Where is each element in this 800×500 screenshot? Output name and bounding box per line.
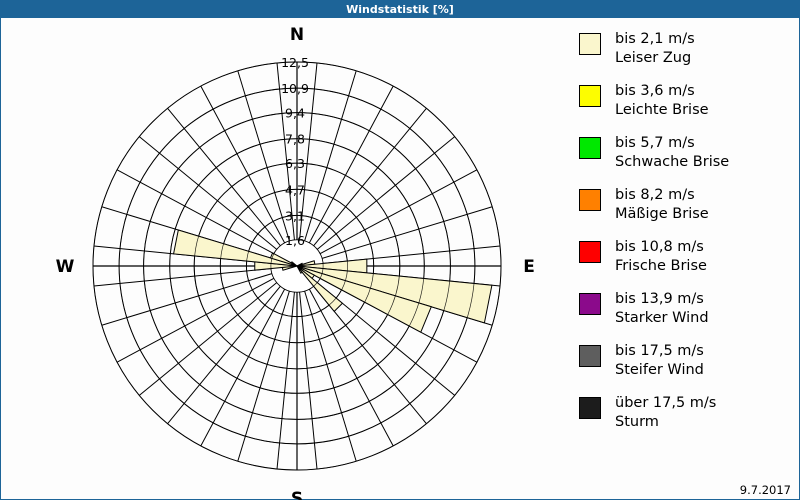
grid-spoke: [297, 207, 492, 266]
window-titlebar: Windstatistik [%]: [1, 1, 799, 18]
window-body: 1,63,14,76,37,89,410,912,5NSWE bis 2,1 m…: [1, 18, 799, 499]
radial-tick-label: 10,9: [281, 81, 309, 96]
wind-rose-chart: 1,63,14,76,37,89,410,912,5NSWE: [1, 18, 567, 500]
legend-label: bis 17,5 m/sSteifer Wind: [615, 342, 704, 380]
legend-color-swatch: [579, 397, 601, 419]
compass-label-east: E: [523, 257, 535, 277]
legend-item[interactable]: bis 8,2 m/sMäßige Brise: [579, 186, 794, 231]
legend-speed-range: über 17,5 m/s: [615, 394, 716, 413]
legend-speed-range: bis 5,7 m/s: [615, 134, 729, 153]
legend-speed-range: bis 10,8 m/s: [615, 238, 707, 257]
radial-tick-label: 7,8: [285, 132, 305, 147]
legend-label: bis 10,8 m/sFrische Brise: [615, 238, 707, 276]
legend-item[interactable]: bis 17,5 m/sSteifer Wind: [579, 342, 794, 387]
legend-item[interactable]: bis 13,9 m/sStarker Wind: [579, 290, 794, 335]
grid-spoke: [297, 137, 455, 266]
legend-beaufort-name: Schwache Brise: [615, 153, 729, 172]
legend-label: bis 3,6 m/sLeichte Brise: [615, 82, 709, 120]
legend-beaufort-name: Starker Wind: [615, 309, 709, 328]
legend-color-swatch: [579, 241, 601, 263]
legend-speed-range: bis 13,9 m/s: [615, 290, 709, 309]
legend-beaufort-name: Leichte Brise: [615, 101, 709, 120]
legend-beaufort-name: Mäßige Brise: [615, 205, 709, 224]
compass-label-south: S: [291, 489, 303, 500]
radial-tick-label: 3,1: [285, 208, 305, 223]
legend-beaufort-name: Sturm: [615, 413, 716, 432]
radial-tick-label: 12,5: [281, 55, 309, 70]
legend-speed-range: bis 2,1 m/s: [615, 30, 695, 49]
legend-color-swatch: [579, 85, 601, 107]
grid-spoke: [168, 266, 297, 424]
window-title: Windstatistik [%]: [346, 3, 454, 16]
legend-item[interactable]: bis 2,1 m/sLeiser Zug: [579, 30, 794, 75]
compass-label-west: W: [56, 257, 75, 277]
grid-spoke: [102, 266, 297, 325]
wind-statistics-window: Windstatistik [%] 1,63,14,76,37,89,410,9…: [0, 0, 800, 500]
radial-tick-label: 1,6: [285, 233, 305, 248]
radial-tick-label: 9,4: [285, 106, 305, 121]
grid-spoke: [297, 71, 356, 266]
grid-spoke: [238, 266, 297, 461]
legend-speed-range: bis 17,5 m/s: [615, 342, 704, 361]
grid-spoke: [297, 108, 426, 266]
legend-label: bis 13,9 m/sStarker Wind: [615, 290, 709, 328]
legend-beaufort-name: Frische Brise: [615, 257, 707, 276]
legend-color-swatch: [579, 189, 601, 211]
legend-beaufort-name: Leiser Zug: [615, 49, 695, 68]
wind-rose-svg: 1,63,14,76,37,89,410,912,5NSWE: [1, 18, 567, 500]
legend-item[interactable]: bis 5,7 m/sSchwache Brise: [579, 134, 794, 179]
legend-speed-range: bis 3,6 m/s: [615, 82, 709, 101]
legend-color-swatch: [579, 137, 601, 159]
footer-date: 9.7.2017: [740, 483, 791, 497]
legend-label: bis 8,2 m/sMäßige Brise: [615, 186, 709, 224]
legend-speed-range: bis 8,2 m/s: [615, 186, 709, 205]
legend-item[interactable]: bis 3,6 m/sLeichte Brise: [579, 82, 794, 127]
compass-label-north: N: [290, 25, 304, 45]
legend-color-swatch: [579, 33, 601, 55]
radial-tick-label: 6,3: [285, 156, 305, 171]
legend-label: bis 5,7 m/sSchwache Brise: [615, 134, 729, 172]
legend: bis 2,1 m/sLeiser Zugbis 3,6 m/sLeichte …: [579, 30, 794, 446]
legend-item[interactable]: über 17,5 m/sSturm: [579, 394, 794, 439]
legend-item[interactable]: bis 10,8 m/sFrische Brise: [579, 238, 794, 283]
legend-color-swatch: [579, 293, 601, 315]
legend-label: bis 2,1 m/sLeiser Zug: [615, 30, 695, 68]
legend-color-swatch: [579, 345, 601, 367]
grid-spoke: [139, 266, 297, 395]
legend-beaufort-name: Steifer Wind: [615, 361, 704, 380]
radial-tick-label: 4,7: [285, 182, 305, 197]
legend-label: über 17,5 m/sSturm: [615, 394, 716, 432]
